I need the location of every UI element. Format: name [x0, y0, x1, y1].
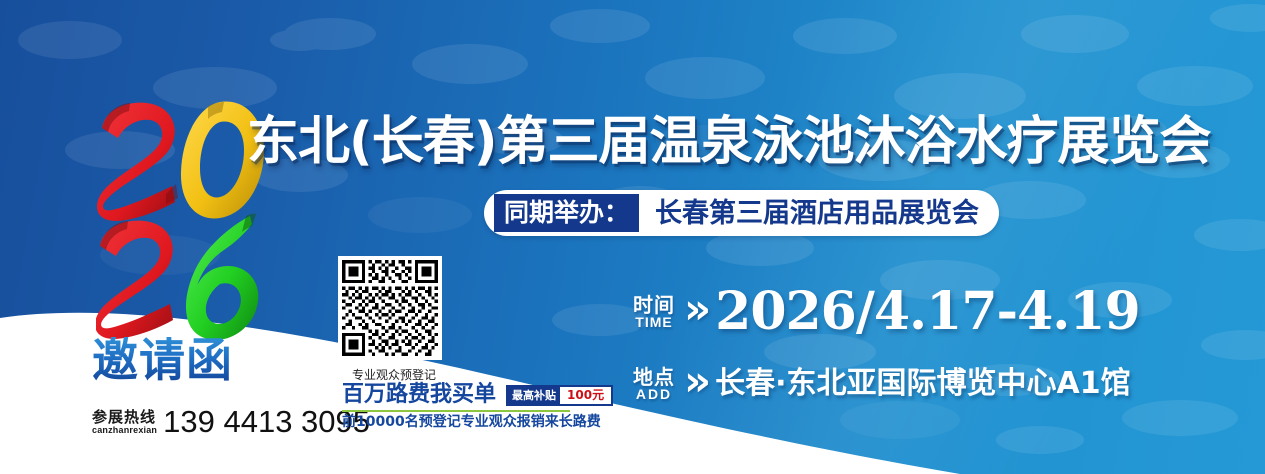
qr-code-icon[interactable]	[338, 256, 442, 360]
hotline-label-cn: 参展热线	[92, 410, 157, 426]
event-date-value: 2026/4.17-4.19	[715, 286, 1140, 338]
promo-divider	[342, 410, 570, 412]
promo-headline: 百万路费我买单	[342, 384, 496, 406]
time-label: 时间 TIME	[633, 295, 675, 330]
hotline-number: 139 4413 3095	[163, 406, 370, 437]
subsidy-badge: 最高补贴 100元	[506, 385, 613, 406]
qr-caption: 专业观众预登记	[338, 366, 450, 383]
address-label-cn: 地点	[633, 367, 675, 387]
concurrent-event-tag: 同期举办：	[494, 194, 639, 232]
travel-subsidy-promo: 百万路费我买单 最高补贴 100元 前10000名预登记专业观众报销来长路费	[342, 384, 613, 430]
invitation-heading: 邀请函	[92, 337, 233, 383]
promo-subtext: 前10000名预登记专业观众报销来长路费	[342, 415, 613, 430]
hotline-label-en: canzhanrexian	[92, 426, 157, 435]
chevron-double-right-icon: »	[684, 288, 707, 330]
event-address-row: 地点 ADD » 长春·东北亚国际博览中心A1馆	[633, 360, 1131, 408]
event-venue-value: 长春·东北亚国际博览中心A1馆	[715, 369, 1131, 399]
subsidy-badge-label: 最高补贴	[508, 387, 560, 404]
concurrent-event-pill: 同期举办： 长春第三届酒店用品展览会	[484, 190, 999, 236]
exhibition-banner: 东北(长春)第三届温泉泳池沐浴水疗展览会 同期举办： 长春第三届酒店用品展览会 …	[0, 0, 1265, 474]
qr-registration-block[interactable]: 专业观众预登记	[338, 256, 450, 383]
time-label-cn: 时间	[633, 295, 675, 315]
address-label: 地点 ADD	[633, 367, 675, 402]
banner-title: 东北(长春)第三届温泉泳池沐浴水疗展览会	[247, 99, 1211, 174]
exhibitor-hotline: 参展热线 canzhanrexian 139 4413 3095	[92, 406, 370, 437]
address-label-en: ADD	[636, 387, 672, 401]
digit-2-red	[97, 103, 178, 221]
digit-2-red-2	[96, 221, 173, 339]
time-label-en: TIME	[635, 315, 672, 329]
hotline-label: 参展热线 canzhanrexian	[92, 410, 157, 437]
digit-6-green	[186, 214, 258, 340]
subsidy-badge-value: 100元	[560, 387, 611, 404]
year-2026-brush-art	[96, 98, 271, 343]
chevron-double-right-icon: »	[684, 360, 707, 402]
event-time-row: 时间 TIME » 2026/4.17-4.19	[633, 286, 1140, 338]
concurrent-event-name: 长春第三届酒店用品展览会	[655, 200, 979, 227]
